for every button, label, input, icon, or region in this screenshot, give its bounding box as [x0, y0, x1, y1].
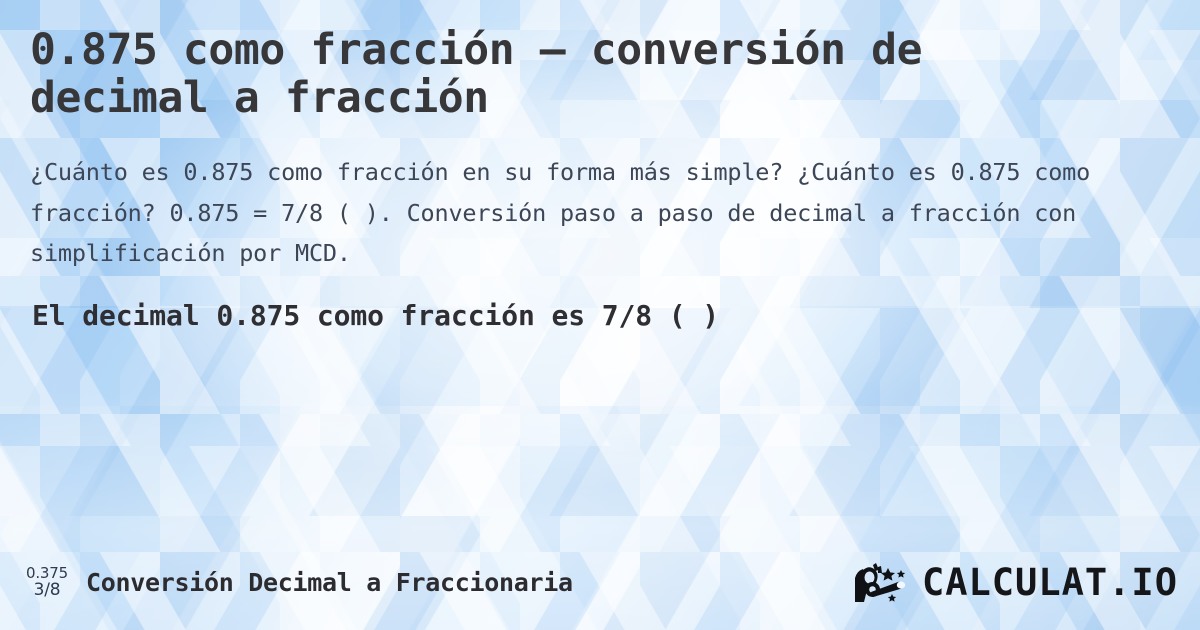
card-content: 0.875 como fracción – conversión de deci…	[0, 0, 1200, 630]
answer-statement: El decimal 0.875 como fracción es 7/8 ( …	[32, 298, 1170, 334]
footer: 0.375 3/8 Conversión Decimal a Fracciona…	[0, 561, 1200, 604]
page-description: ¿Cuánto es 0.875 como fracción en su for…	[30, 152, 1170, 273]
hand-magic-wand-icon	[854, 562, 916, 604]
brand-wordmark: CALCULAT.IO	[922, 561, 1178, 604]
footer-title: Conversión Decimal a Fraccionaria	[86, 568, 573, 597]
page-title: 0.875 como fracción – conversión de deci…	[30, 26, 1100, 122]
brand-logo[interactable]: CALCULAT.IO	[854, 561, 1178, 604]
footer-left-group: 0.375 3/8 Conversión Decimal a Fracciona…	[26, 565, 573, 601]
mark-fraction-value: 3/8	[34, 581, 61, 600]
decimal-fraction-mark-icon: 0.375 3/8	[26, 565, 68, 601]
mark-decimal-value: 0.375	[26, 565, 68, 582]
og-card: 0.875 como fracción – conversión de deci…	[0, 0, 1200, 630]
